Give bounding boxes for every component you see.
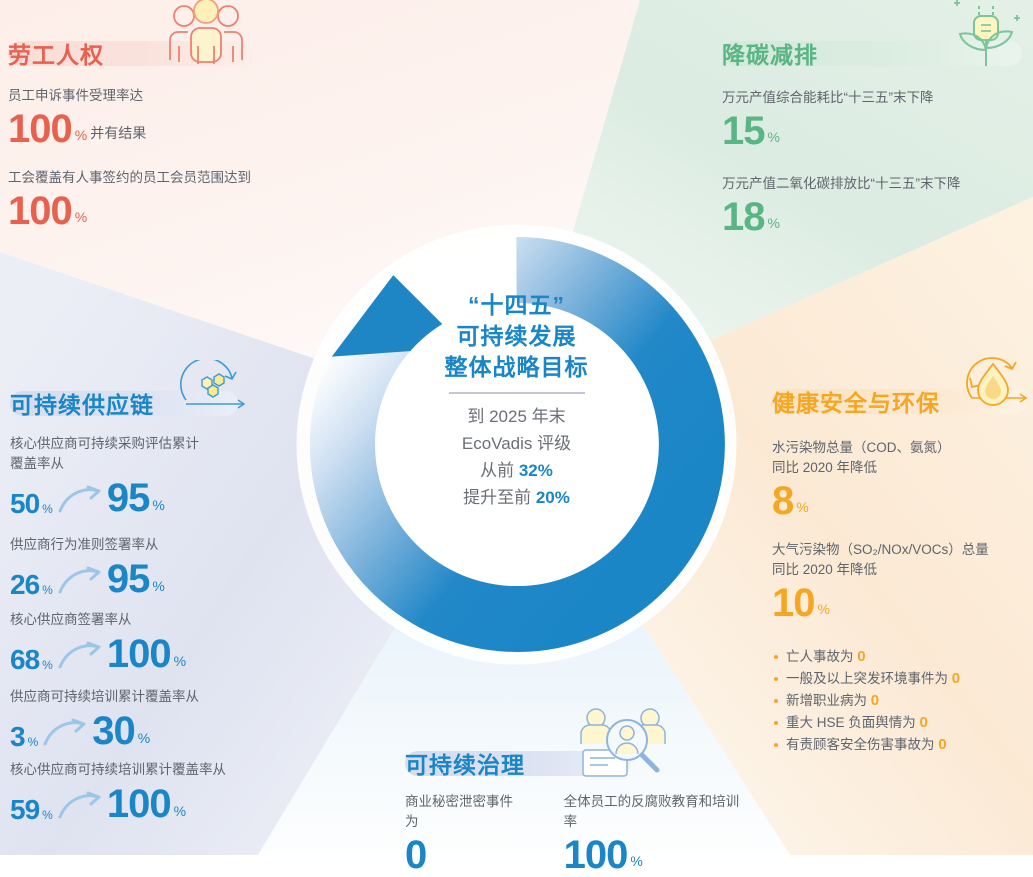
section-governance: 可持续治理 商业秘密泄密事件为 0: [405, 748, 745, 876]
stat-label-line-1: 核心供应商签署率从: [10, 610, 340, 630]
stat-to-value: 30: [92, 710, 135, 752]
stat-label-line-2: 同比 2020 年降低: [772, 458, 1033, 478]
stat-from-unit: %: [42, 502, 53, 516]
section-supply-stat-0: 核心供应商可持续采购评估累计 覆盖率从 50 % 95 %: [10, 434, 340, 519]
center-strategy-card: “十四五” 可持续发展 整体战略目标 到 2025 年末 EcoVadis 评级…: [396, 290, 637, 599]
stat-unit: %: [796, 499, 808, 515]
center-title: “十四五” 可持续发展 整体战略目标: [445, 290, 589, 383]
list-item: 有责顾客安全伤害事故为 0: [772, 734, 1033, 756]
stat-from-value: 3: [10, 722, 25, 752]
stat-value: 100: [8, 190, 72, 232]
section-supply-header: 可持续供应链: [10, 388, 340, 418]
list-item: 一般及以上突发环境事件为 0: [772, 668, 1033, 690]
section-supply-title: 可持续供应链: [10, 386, 160, 420]
section-governance-stat-1: 全体员工的反腐败教育和培训率 100 %: [564, 792, 745, 876]
stat-unit: %: [75, 209, 87, 225]
stat-from-unit: %: [42, 658, 53, 672]
water-drop-cycle-icon: [954, 354, 1032, 420]
stat-unit: %: [630, 853, 642, 869]
stat-from-unit: %: [42, 583, 53, 597]
stat-unit: %: [768, 215, 780, 231]
stat-to-unit: %: [174, 803, 186, 819]
bullet-text: 有责顾客安全伤害事故为: [786, 737, 938, 752]
list-item: 亡人事故为 0: [772, 646, 1033, 668]
stat-value: 0: [405, 834, 426, 876]
stat-unit: %: [75, 127, 87, 143]
section-supply-stat-1: 供应商行为准则签署率从 26 % 95 %: [10, 535, 340, 600]
stat-value-row: 10 %: [772, 582, 1033, 624]
section-supply-stat-3: 供应商可持续培训累计覆盖率从 3 % 30 %: [10, 687, 340, 752]
bullet-value: 0: [857, 648, 865, 665]
stat-label: 工会覆盖有人事签约的员工会员范围达到: [8, 168, 338, 188]
list-item: 重大 HSE 负面舆情为 0: [772, 712, 1033, 734]
increase-arrow-icon: [43, 718, 87, 748]
stat-to-unit: %: [174, 653, 186, 669]
stat-label: 商业秘密泄密事件为: [405, 792, 522, 832]
list-item: 新增职业病为 0: [772, 690, 1033, 712]
stat-value-row: 50 % 95 %: [10, 477, 340, 519]
section-hse-bullet-list: 亡人事故为 0 一般及以上突发环境事件为 0 新增职业病为 0 重大 HSE 负…: [772, 646, 1033, 756]
people-magnifier-icon: [575, 700, 673, 780]
stat-value: 8: [772, 480, 793, 522]
stat-value-row: 100 %: [8, 190, 338, 232]
section-labor-header: 劳工人权: [8, 38, 338, 68]
stat-from-value: 59: [10, 795, 39, 825]
bullet-text: 新增职业病为: [786, 693, 871, 708]
center-sub-line-4-label: 提升至前: [463, 488, 536, 507]
bullet-text: 亡人事故为: [786, 649, 857, 664]
section-carbon-title: 降碳减排: [722, 36, 824, 70]
stat-value-row: 3 % 30 %: [10, 710, 340, 752]
section-carbon-stat-0: 万元产值综合能耗比“十三五”末下降 15 %: [722, 88, 1032, 152]
plant-plug-icon: [944, 0, 1028, 70]
stat-value-row: 0: [405, 834, 522, 876]
center-title-line-2: 可持续发展: [445, 321, 589, 352]
stat-label-line-1: 核心供应商可持续采购评估累计: [10, 434, 340, 454]
increase-arrow-icon: [58, 791, 102, 821]
center-divider: [449, 392, 585, 394]
section-labor-stat-1: 工会覆盖有人事签约的员工会员范围达到 100 %: [8, 168, 338, 232]
honeycomb-cycle-icon: [174, 360, 250, 422]
section-labor-stat-0: 员工申诉事件受理率达 100 % 并有结果: [8, 86, 338, 150]
stat-to-value: 95: [107, 477, 150, 519]
center-title-line-1: “十四五”: [445, 290, 589, 321]
bullet-value: 0: [871, 692, 879, 709]
stat-value-row: 18 %: [722, 196, 1032, 238]
stat-value: 18: [722, 196, 765, 238]
bullet-value: 0: [952, 670, 960, 687]
stat-to-unit: %: [152, 578, 164, 594]
section-carbon: 降碳减排 万元产值综合能耗比“十三五”末下降 15 % 万元产值: [722, 38, 1032, 238]
bullet-text: 一般及以上突发环境事件为: [786, 671, 952, 686]
center-sub-line-1: 到 2025 年末: [462, 403, 571, 430]
center-subtext: 到 2025 年末 EcoVadis 评级 从前 32% 提升至前 20%: [462, 403, 571, 511]
section-labor: 劳工人权 员工申诉事件受理率达 100 % 并有结果: [8, 38, 338, 232]
center-sub-line-3: 从前 32%: [462, 457, 571, 484]
infographic-canvas: “十四五” 可持续发展 整体战略目标 到 2025 年末 EcoVadis 评级…: [0, 0, 1033, 855]
stat-value-row: 100 %: [564, 834, 745, 876]
section-labor-title: 劳工人权: [8, 36, 110, 70]
bullet-value: 0: [920, 714, 928, 731]
bullet-text: 重大 HSE 负面舆情为: [786, 715, 920, 730]
stat-value-row: 59 % 100 %: [10, 783, 340, 825]
section-hse-stat-1: 大气污染物（SO₂/NOx/VOCs）总量 同比 2020 年降低 10 %: [772, 540, 1033, 624]
stat-label-line-1: 水污染物总量（COD、氨氮）: [772, 438, 1033, 458]
stat-label: 万元产值二氧化碳排放比“十三五”末下降: [722, 174, 1032, 194]
section-governance-stats: 商业秘密泄密事件为 0 全体员工的反腐败教育和培训率 100 %: [405, 792, 745, 876]
center-sub-line-3-label: 从前: [480, 461, 519, 480]
stat-value-row: 26 % 95 %: [10, 558, 340, 600]
center-sub-line-2: EcoVadis 评级: [462, 430, 571, 457]
section-hse-title: 健康安全与环保: [772, 384, 946, 418]
stat-value: 15: [722, 110, 765, 152]
section-supply: 可持续供应链 核心供应商可持续采购评估累计 覆盖率从 50 %: [10, 388, 340, 825]
stat-unit: %: [768, 129, 780, 145]
section-supply-stat-2: 核心供应商签署率从 68 % 100 %: [10, 610, 340, 675]
section-carbon-header: 降碳减排: [722, 38, 1032, 68]
section-supply-stat-4: 核心供应商可持续培训累计覆盖率从 59 % 100 %: [10, 760, 340, 825]
section-carbon-stat-1: 万元产值二氧化碳排放比“十三五”末下降 18 %: [722, 174, 1032, 238]
increase-arrow-icon: [58, 485, 102, 515]
stat-label-line-2: 覆盖率从: [10, 454, 340, 474]
stat-from-value: 50: [10, 489, 39, 519]
stat-to-value: 100: [107, 783, 171, 825]
section-hse-header: 健康安全与环保: [772, 386, 1033, 416]
stat-label-line-1: 供应商行为准则签署率从: [10, 535, 340, 555]
section-governance-title: 可持续治理: [405, 746, 531, 780]
stat-label: 万元产值综合能耗比“十三五”末下降: [722, 88, 1032, 108]
stat-to-value: 100: [107, 633, 171, 675]
stat-value-row: 68 % 100 %: [10, 633, 340, 675]
stat-value-row: 8 %: [772, 480, 1033, 522]
center-title-line-3: 整体战略目标: [445, 352, 589, 383]
center-sub-line-3-value: 32%: [519, 461, 553, 480]
center-sub-line-4-value: 20%: [536, 488, 570, 507]
section-hse-stat-0: 水污染物总量（COD、氨氮） 同比 2020 年降低 8 %: [772, 438, 1033, 522]
section-hse: 健康安全与环保 水污染物总量（COD、氨氮） 同比 2020 年降低 8 % 大…: [772, 386, 1033, 756]
section-governance-header: 可持续治理: [405, 748, 745, 778]
increase-arrow-icon: [58, 566, 102, 596]
stat-from-value: 68: [10, 645, 39, 675]
stat-value: 100: [564, 834, 628, 876]
stat-label-line-1: 大气污染物（SO₂/NOx/VOCs）总量: [772, 540, 1033, 560]
stat-to-unit: %: [138, 730, 150, 746]
stat-to-value: 95: [107, 558, 150, 600]
center-sub-line-4: 提升至前 20%: [462, 484, 571, 511]
stat-unit: %: [818, 601, 830, 617]
stat-value: 100: [8, 108, 72, 150]
stat-label-line-1: 核心供应商可持续培训累计覆盖率从: [10, 760, 340, 780]
three-people-icon: [160, 0, 252, 68]
increase-arrow-icon: [58, 641, 102, 671]
stat-from-value: 26: [10, 570, 39, 600]
stat-label-line-1: 供应商可持续培训累计覆盖率从: [10, 687, 340, 707]
bullet-value: 0: [938, 736, 946, 753]
stat-suffix: 并有结果: [90, 123, 146, 143]
stat-label: 员工申诉事件受理率达: [8, 86, 338, 106]
stat-label: 全体员工的反腐败教育和培训率: [564, 792, 745, 832]
stat-value-row: 15 %: [722, 110, 1032, 152]
section-governance-stat-0: 商业秘密泄密事件为 0: [405, 792, 522, 876]
stat-from-unit: %: [28, 735, 39, 749]
stat-value: 10: [772, 582, 815, 624]
stat-value-row: 100 % 并有结果: [8, 108, 338, 150]
stat-to-unit: %: [152, 497, 164, 513]
stat-from-unit: %: [42, 808, 53, 822]
stat-label-line-2: 同比 2020 年降低: [772, 560, 1033, 580]
